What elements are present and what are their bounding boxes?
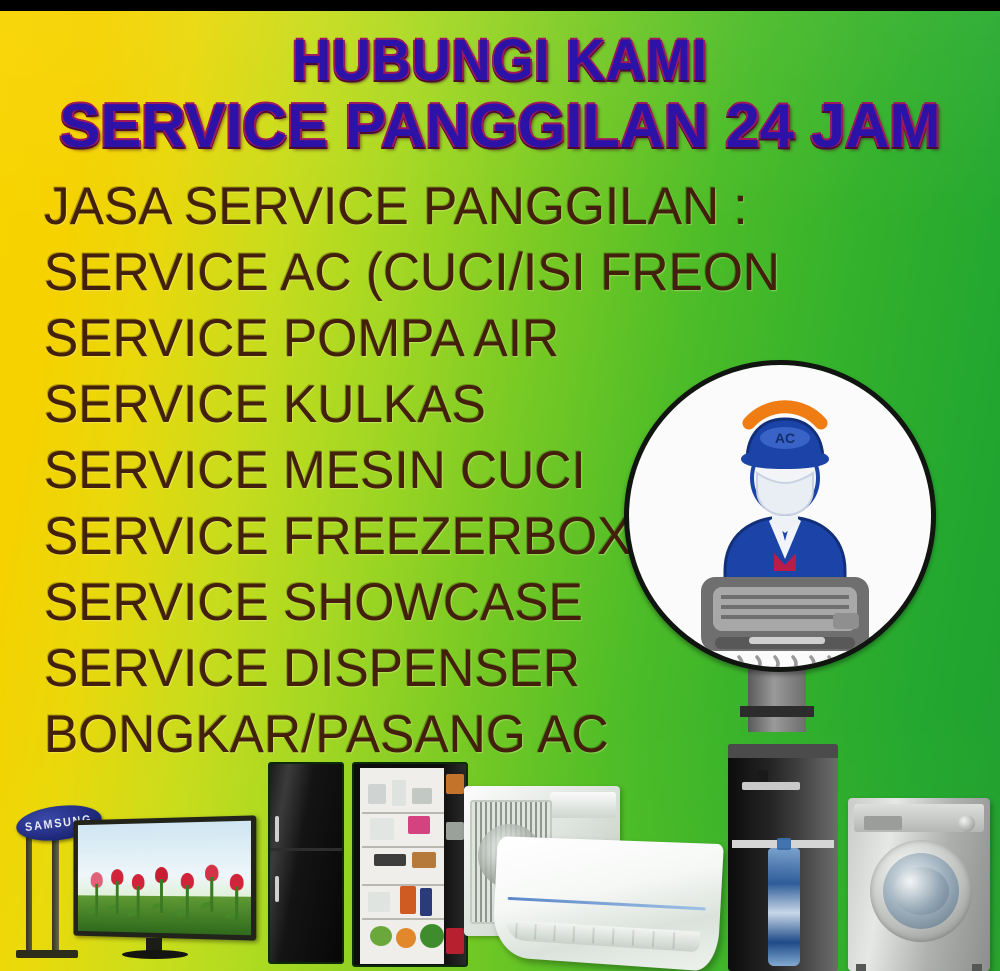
service-list-item: BONGKAR/PASANG AC bbox=[44, 702, 665, 768]
dispenser-water-bottle bbox=[768, 848, 800, 966]
washer-foot bbox=[972, 964, 982, 971]
service-list-item: SERVICE AC (CUCI/ISI FREON bbox=[44, 240, 665, 306]
service-list-item: SERVICE KULKAS bbox=[44, 372, 665, 438]
tulip-flower bbox=[181, 873, 194, 920]
washer-door-glass bbox=[883, 853, 959, 929]
cap-badge-text: AC bbox=[775, 430, 795, 446]
tulip-flower bbox=[132, 874, 144, 920]
refrigerator-interior bbox=[360, 768, 450, 964]
ac-indoor-unit bbox=[492, 836, 724, 971]
technician-icon: AC bbox=[629, 365, 936, 672]
ac-technician-badge: AC bbox=[624, 360, 936, 736]
refrigerator-closed bbox=[268, 762, 344, 964]
ac-accent-line bbox=[508, 897, 706, 911]
appliance-air-conditioner bbox=[462, 782, 722, 971]
airflow-icon bbox=[718, 657, 850, 672]
appliance-samsung-tv: SAMSUNG bbox=[10, 800, 260, 971]
tulip-flower bbox=[91, 872, 103, 917]
tv-screen bbox=[73, 815, 256, 940]
service-list-item: SERVICE MESIN CUCI bbox=[44, 438, 665, 504]
ac-outdoor-top bbox=[550, 792, 616, 818]
service-list-item: JASA SERVICE PANGGILAN : bbox=[44, 174, 665, 240]
service-list-item: SERVICE POMPA AIR bbox=[44, 306, 665, 372]
appliance-refrigerators bbox=[268, 762, 468, 971]
appliance-water-dispenser bbox=[728, 744, 838, 971]
service-list-item: SERVICE FREEZERBOX bbox=[44, 504, 665, 570]
dispenser-tap bbox=[742, 782, 800, 790]
sign-base bbox=[16, 950, 78, 958]
ac-unit-icon bbox=[701, 577, 869, 651]
dispenser-top bbox=[728, 744, 838, 758]
poster-root: HUBUNGI KAMI SERVICE PANGGILAN 24 JAM JA… bbox=[0, 0, 1000, 971]
washer-laundry bbox=[893, 867, 949, 915]
sign-pole-left bbox=[26, 836, 32, 952]
cap-brim bbox=[741, 449, 829, 469]
service-list: JASA SERVICE PANGGILAN : SERVICE AC (CUC… bbox=[44, 174, 684, 768]
dispenser-body bbox=[728, 744, 838, 971]
washer-control-panel bbox=[854, 804, 984, 832]
tulip-flower bbox=[111, 870, 123, 915]
badge-stand bbox=[748, 666, 806, 732]
heading-line-1: HUBUNGI KAMI bbox=[35, 30, 965, 92]
service-list-item: SERVICE DISPENSER bbox=[44, 636, 665, 702]
tulip-flower bbox=[205, 865, 218, 912]
washer-body bbox=[848, 798, 990, 971]
heading-line-2: SERVICE PANGGILAN 24 JAM bbox=[5, 94, 995, 160]
washer-detergent-drawer bbox=[864, 816, 902, 830]
tulip-flower bbox=[155, 867, 168, 913]
badge-circle: AC bbox=[624, 360, 936, 672]
washer-foot bbox=[856, 964, 866, 971]
appliance-washing-machine bbox=[848, 798, 990, 971]
washer-door[interactable] bbox=[870, 840, 972, 942]
sign-pole-right bbox=[52, 836, 59, 952]
service-list-item: SERVICE SHOWCASE bbox=[44, 570, 665, 636]
washer-program-knob[interactable] bbox=[958, 815, 975, 832]
top-black-bar bbox=[0, 0, 1000, 11]
refrigerator-open bbox=[352, 762, 468, 967]
tv-stand-base bbox=[122, 950, 188, 959]
tulip-flower bbox=[230, 874, 244, 922]
